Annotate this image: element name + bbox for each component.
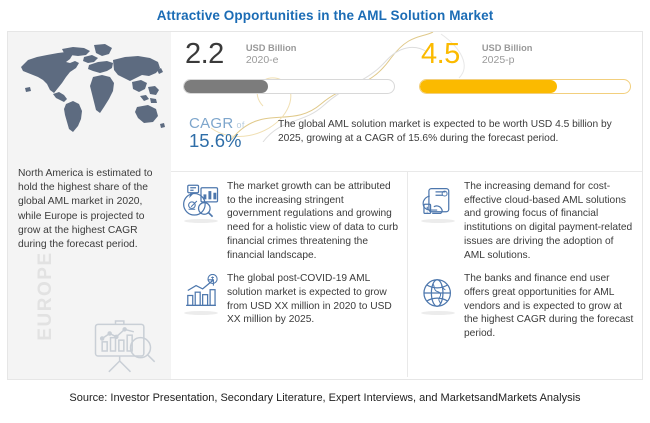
icon-shadow [184, 219, 218, 223]
progress-bar-2020 [183, 79, 395, 94]
europe-watermark: EUROPE [35, 246, 57, 346]
cagr-box: CAGRof 15.6% [183, 115, 278, 151]
presentation-chart-magnifier-icon [88, 315, 158, 377]
infographic-frame: North America is estimated to hold the h… [7, 31, 643, 380]
cagr-of: of [237, 120, 245, 130]
bullet-item: The banks and finance end user offers gr… [418, 272, 635, 341]
stat-value-2020: 2.2 [185, 39, 224, 69]
world-map-icon [14, 40, 166, 136]
cagr-row: CAGRof 15.6% The global AML solution mar… [171, 111, 642, 171]
bullet-item: The market growth can be attributed to t… [181, 180, 399, 262]
data-analysis-search-icon [181, 182, 221, 220]
bullets-grid: The market growth can be attributed to t… [171, 172, 642, 377]
stat-card-2020: 2.2 USD Billion 2020-e [171, 32, 407, 111]
bullet-text: The global post-COVID-19 AML solution ma… [227, 272, 399, 327]
bullet-text: The increasing demand for cost-effective… [464, 180, 635, 262]
page-title-bar: Attractive Opportunities in the AML Solu… [0, 0, 650, 31]
bullet-column-left: The market growth can be attributed to t… [171, 172, 407, 377]
left-panel: North America is estimated to hold the h… [8, 32, 171, 379]
stat-year-2020: 2020-e [246, 54, 279, 66]
page-title: Attractive Opportunities in the AML Solu… [157, 8, 494, 23]
stat-year-2025: 2025-p [482, 54, 515, 66]
bullet-item: The global post-COVID-19 AML solution ma… [181, 272, 399, 327]
stats-row: 2.2 USD Billion 2020-e 4.5 USD Billion 2… [171, 32, 642, 111]
stat-caption-2020: USD Billion 2020-e [246, 42, 297, 67]
icon-shadow [421, 219, 455, 223]
cloud-documents-alert-icon [418, 182, 458, 220]
progress-bar-2025 [419, 79, 631, 94]
stat-value-2025: 4.5 [421, 39, 460, 69]
stat-unit-2025: USD Billion [482, 43, 533, 53]
bullet-column-right: The increasing demand for cost-effective… [407, 172, 642, 377]
bullet-item: The increasing demand for cost-effective… [418, 180, 635, 262]
globe-icon [418, 274, 458, 312]
cagr-description: The global AML solution market is expect… [278, 115, 630, 145]
left-panel-description: North America is estimated to hold the h… [18, 167, 164, 252]
source-note: Source: Investor Presentation, Secondary… [0, 392, 650, 404]
stat-card-2025: 4.5 USD Billion 2025-p [407, 32, 642, 111]
stat-unit-2020: USD Billion [246, 43, 297, 53]
icon-shadow [421, 311, 455, 315]
progress-fill-2020 [184, 80, 268, 93]
bullet-text: The banks and finance end user offers gr… [464, 272, 635, 341]
stat-caption-2025: USD Billion 2025-p [482, 42, 533, 67]
right-panel: 2.2 USD Billion 2020-e 4.5 USD Billion 2… [171, 32, 642, 379]
icon-shadow [184, 311, 218, 315]
cagr-percent: 15.6% [189, 130, 278, 151]
progress-fill-2025 [420, 80, 557, 93]
growth-bar-chart-dollar-icon [181, 274, 221, 312]
bullet-text: The market growth can be attributed to t… [227, 180, 399, 262]
